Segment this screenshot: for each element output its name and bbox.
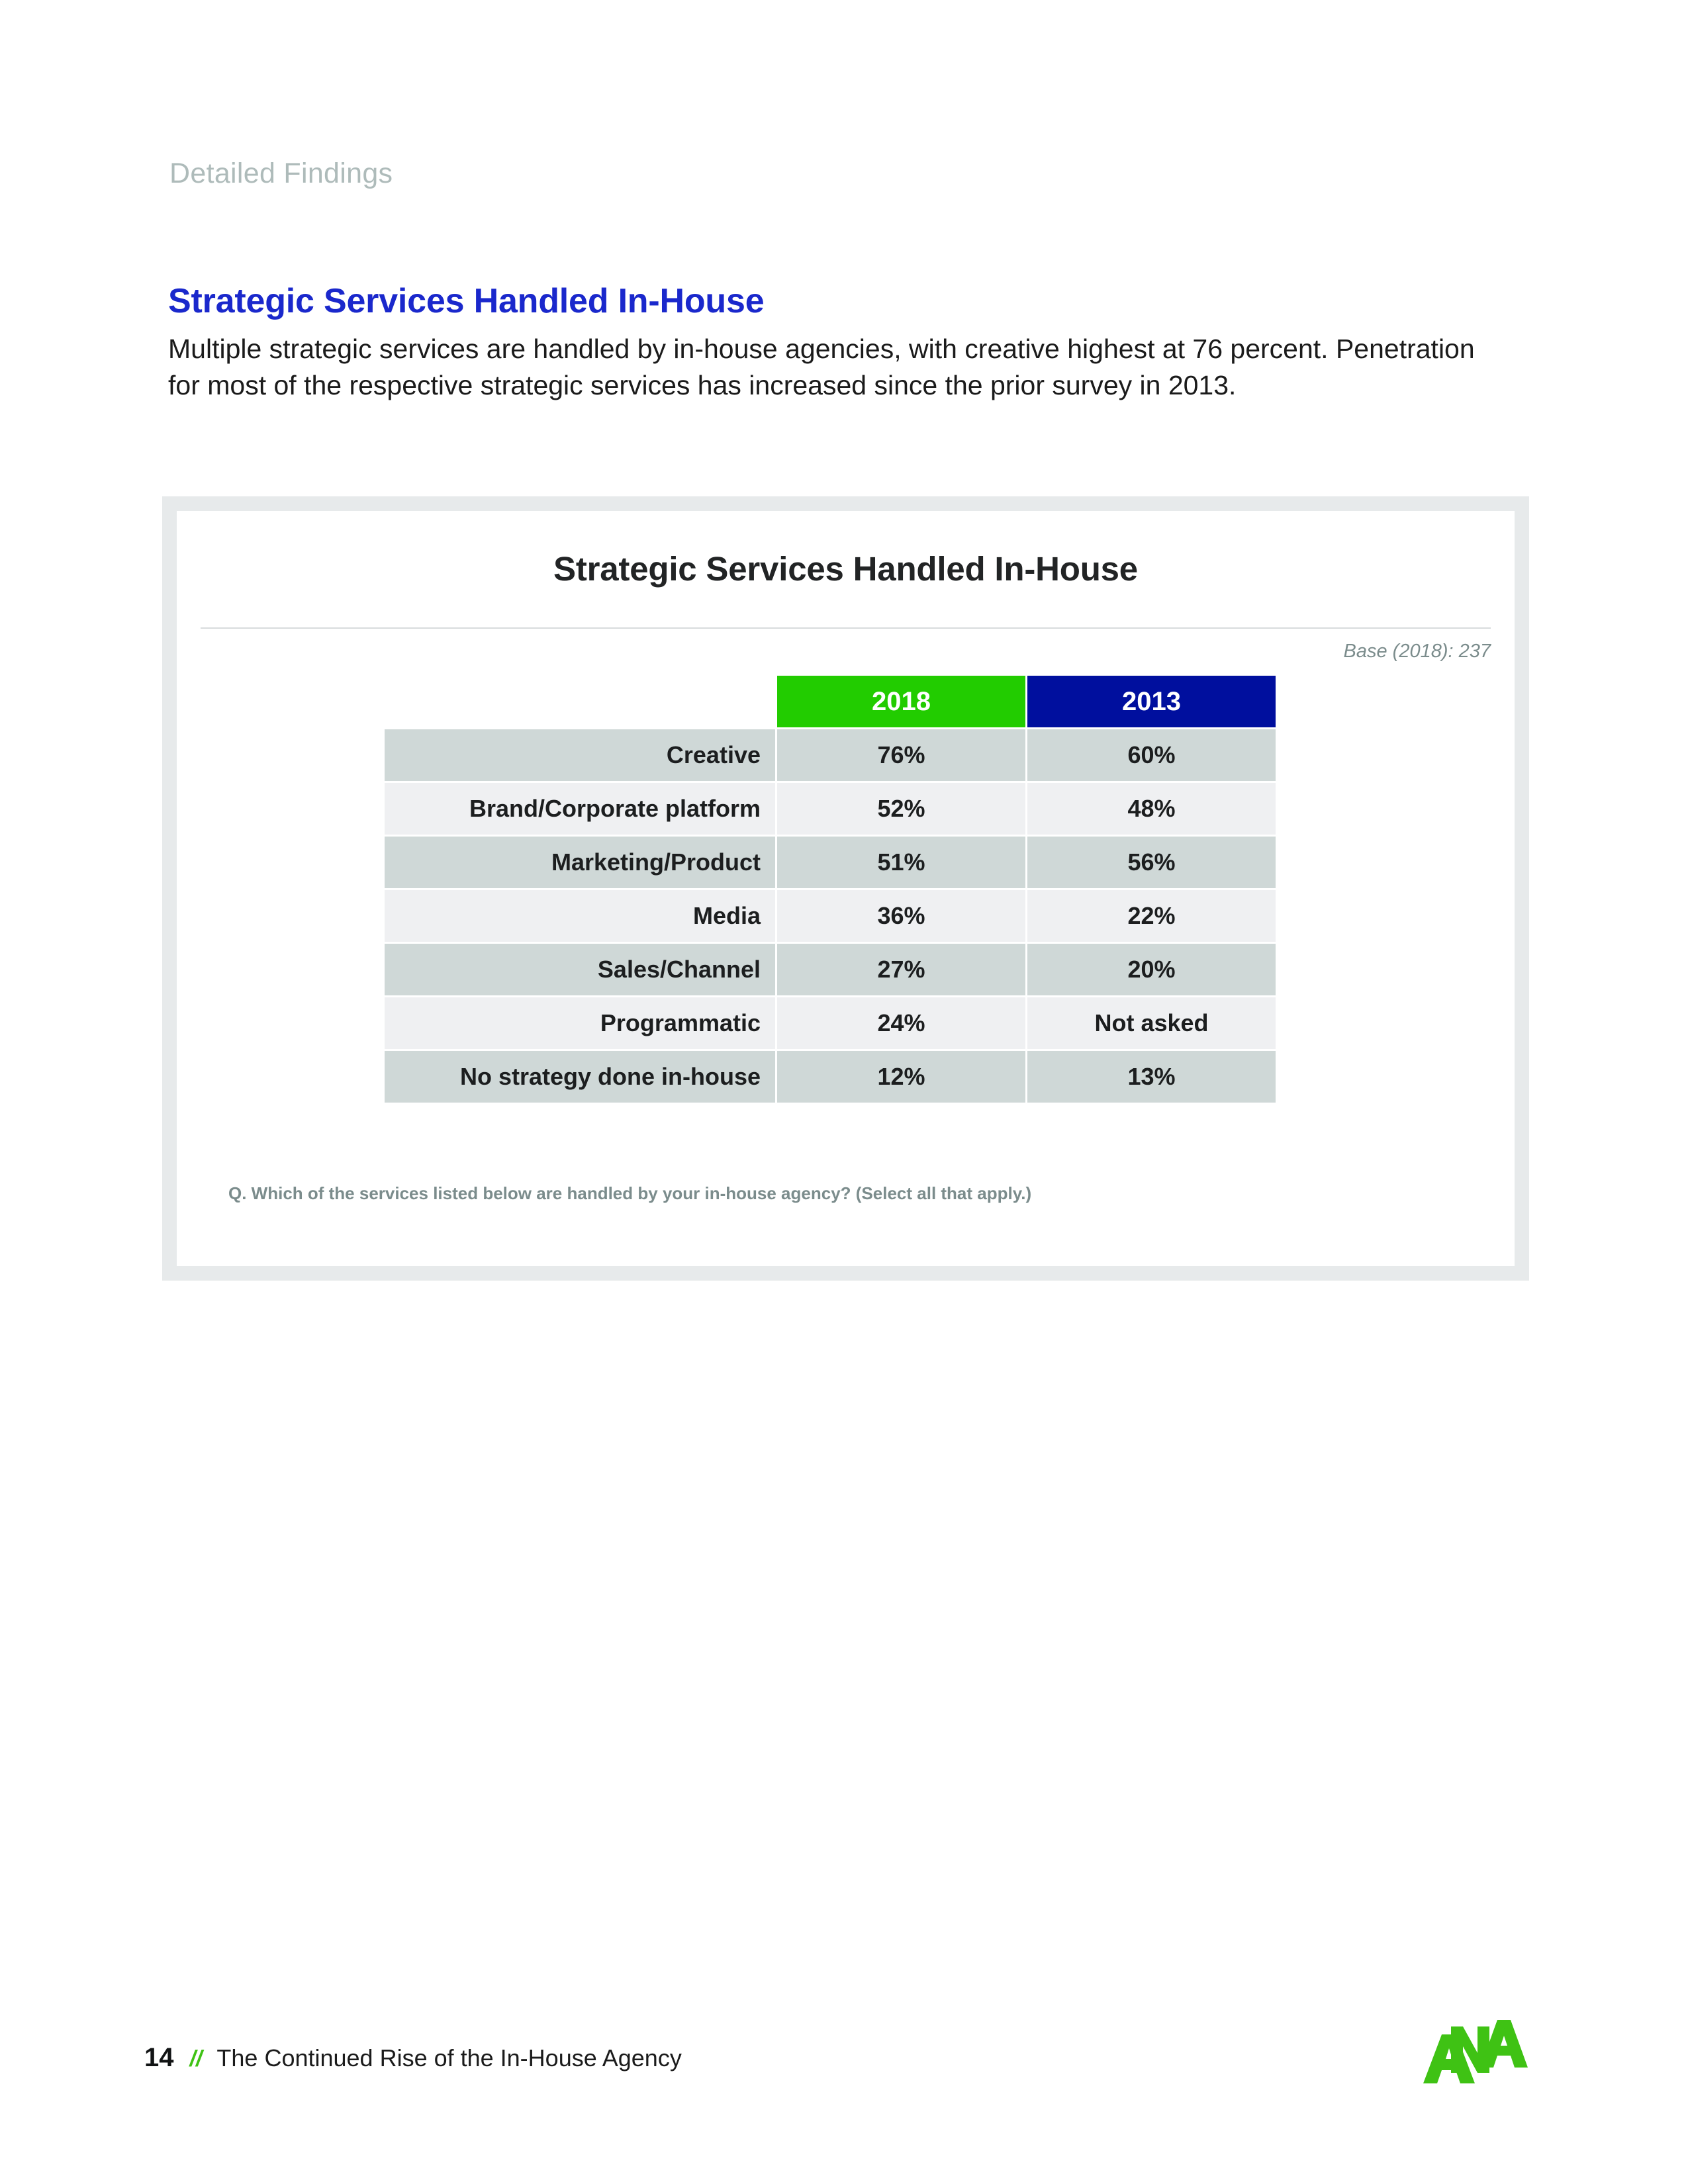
column-header-2013: 2013	[1027, 676, 1276, 727]
strategic-services-table: 2018 2013 Creative 76% 60% Brand/Corpora…	[383, 674, 1278, 1105]
column-header-2018: 2018	[777, 676, 1025, 727]
table-body: Creative 76% 60% Brand/Corporate platfor…	[385, 729, 1276, 1103]
row-label: Programmatic	[385, 997, 775, 1049]
table-row: Brand/Corporate platform 52% 48%	[385, 783, 1276, 835]
table-row: Creative 76% 60%	[385, 729, 1276, 781]
row-value-2018: 52%	[777, 783, 1025, 835]
footer-separator-icon: //	[190, 2046, 203, 2072]
row-value-2013: 20%	[1027, 944, 1276, 995]
table-header-row: 2018 2013	[385, 676, 1276, 727]
row-value-2013: 48%	[1027, 783, 1276, 835]
row-value-2013: 56%	[1027, 837, 1276, 888]
row-value-2013: 60%	[1027, 729, 1276, 781]
page-title: Strategic Services Handled In-House	[168, 281, 764, 321]
row-label: Brand/Corporate platform	[385, 783, 775, 835]
row-label: Sales/Channel	[385, 944, 775, 995]
table-row: Programmatic 24% Not asked	[385, 997, 1276, 1049]
row-value-2018: 76%	[777, 729, 1025, 781]
table-row: No strategy done in-house 12% 13%	[385, 1051, 1276, 1103]
row-value-2018: 12%	[777, 1051, 1025, 1103]
table-row: Marketing/Product 51% 56%	[385, 837, 1276, 888]
row-value-2013: 13%	[1027, 1051, 1276, 1103]
row-value-2018: 27%	[777, 944, 1025, 995]
table-head: 2018 2013	[385, 676, 1276, 727]
section-eyebrow: Detailed Findings	[169, 158, 393, 190]
intro-paragraph: Multiple strategic services are handled …	[168, 331, 1505, 403]
chart-divider	[201, 627, 1491, 629]
chart-base-note: Base (2018): 237	[1344, 641, 1491, 662]
row-value-2013: Not asked	[1027, 997, 1276, 1049]
row-label: Marketing/Product	[385, 837, 775, 888]
row-label: Media	[385, 890, 775, 942]
table-row: Media 36% 22%	[385, 890, 1276, 942]
ana-logo-icon	[1417, 2012, 1529, 2085]
page-footer: 14 // The Continued Rise of the In-House…	[144, 2043, 682, 2073]
table-row: Sales/Channel 27% 20%	[385, 944, 1276, 995]
row-value-2018: 51%	[777, 837, 1025, 888]
document-page: Detailed Findings Strategic Services Han…	[0, 0, 1688, 2184]
row-value-2018: 24%	[777, 997, 1025, 1049]
footer-document-title: The Continued Rise of the In-House Agenc…	[216, 2044, 681, 2072]
row-label: No strategy done in-house	[385, 1051, 775, 1103]
chart-footnote: Q. Which of the services listed below ar…	[228, 1183, 1031, 1204]
row-value-2018: 36%	[777, 890, 1025, 942]
chart-card-inner: Strategic Services Handled In-House Base…	[177, 511, 1515, 1266]
row-value-2013: 22%	[1027, 890, 1276, 942]
chart-title: Strategic Services Handled In-House	[177, 549, 1515, 588]
row-label: Creative	[385, 729, 775, 781]
chart-card: Strategic Services Handled In-House Base…	[162, 496, 1529, 1281]
page-number: 14	[144, 2043, 174, 2073]
header-blank	[385, 676, 775, 727]
